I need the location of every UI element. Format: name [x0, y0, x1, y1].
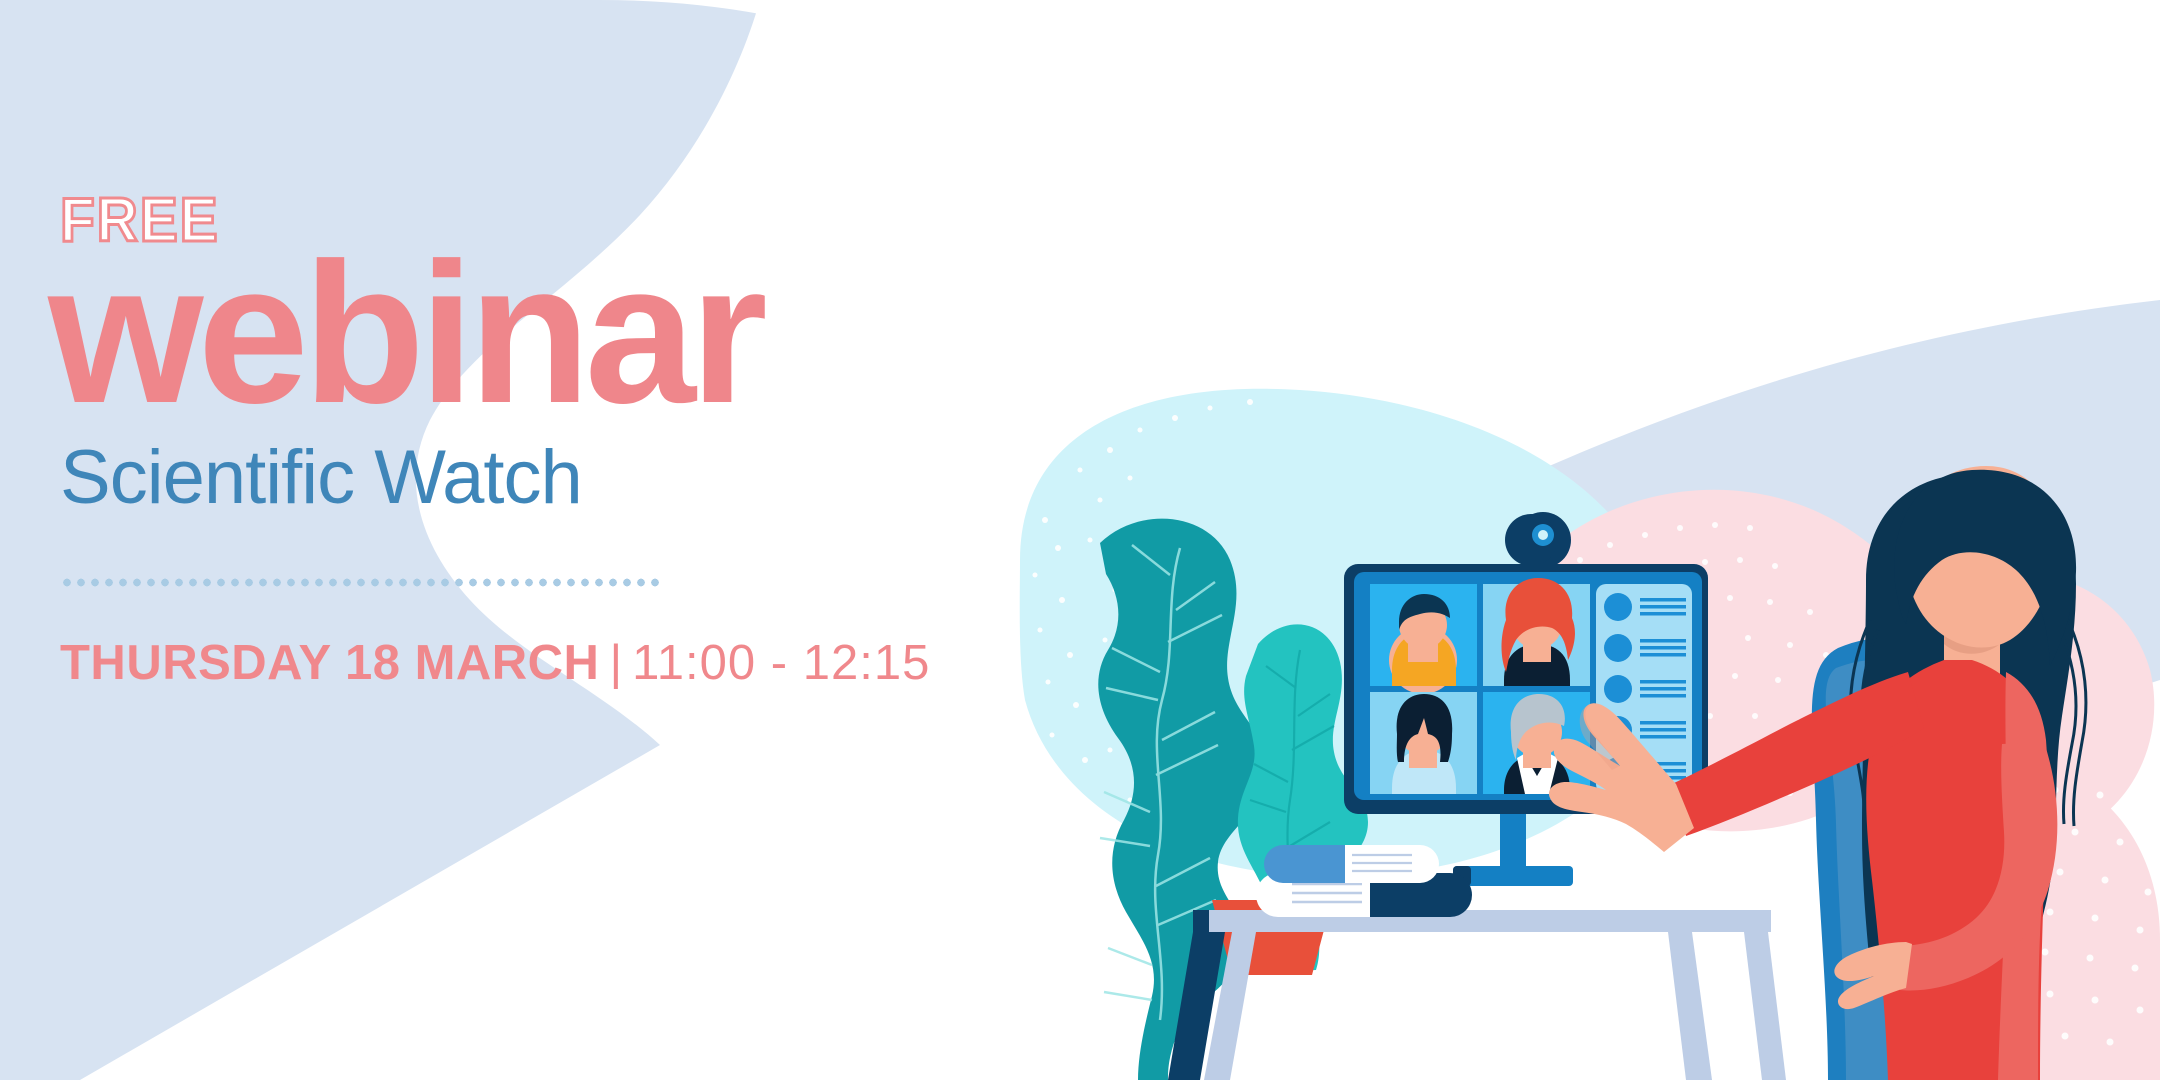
- page-subtitle: Scientific Watch: [60, 440, 958, 516]
- page-title: webinar: [48, 242, 958, 426]
- event-time: 11:00 - 12:15: [632, 636, 930, 690]
- desk-leg-far-right: [1744, 932, 1786, 1080]
- book-top: [1264, 845, 1439, 883]
- webinar-banner: FREE webinar Scientific Watch THURSDAY 1…: [0, 0, 2160, 1080]
- book-stack: [1256, 845, 1472, 917]
- banner-text-block: FREE webinar Scientific Watch THURSDAY 1…: [58, 190, 958, 691]
- event-datetime: THURSDAY 18 MARCH|11:00 - 12:15: [60, 635, 958, 691]
- datetime-separator: |: [599, 636, 632, 690]
- desk-leg-right: [1668, 932, 1712, 1080]
- participant-tile-1[interactable]: [1370, 584, 1477, 694]
- desk-top-edge-dark: [1193, 910, 1209, 932]
- participant-tile-2[interactable]: [1483, 578, 1590, 686]
- free-badge: FREE: [60, 190, 886, 252]
- presenter-woman: [1549, 466, 2086, 1080]
- event-date: THURSDAY 18 MARCH: [60, 636, 599, 690]
- participant-tile-3[interactable]: [1370, 692, 1477, 794]
- dashed-divider: [60, 578, 660, 587]
